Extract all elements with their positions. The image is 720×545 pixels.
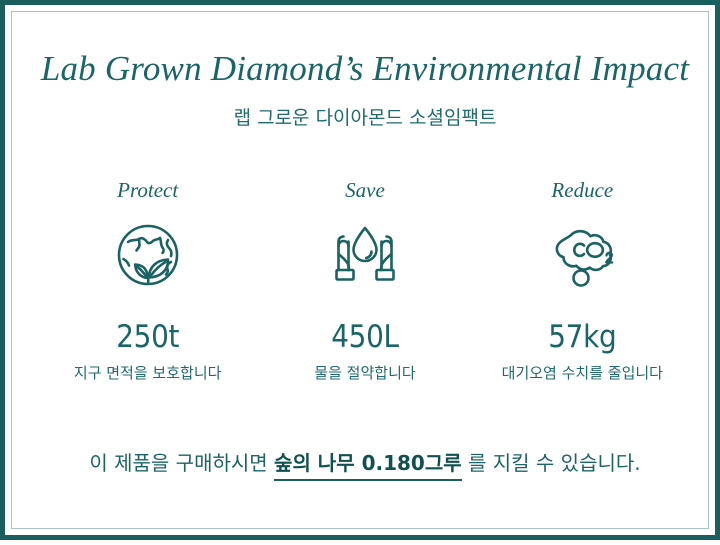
globe-leaf-icon bbox=[111, 219, 185, 291]
stat-column-reduce: Reduce 57kg bbox=[474, 177, 691, 384]
stats-row: Protect bbox=[39, 177, 691, 384]
stat-caption-protect: 지구 면적을 보호합니다 bbox=[74, 363, 222, 384]
stat-value-protect: 250t bbox=[116, 319, 179, 355]
stat-value-reduce: 57kg bbox=[548, 319, 616, 355]
hands-water-drop-icon bbox=[325, 219, 405, 291]
stat-column-protect: Protect bbox=[39, 177, 256, 384]
infographic-content: Lab Grown Diamond’s Environmental Impact… bbox=[5, 5, 720, 545]
footer-lead-text: 이 제품을 구매하시면 bbox=[89, 451, 274, 475]
infographic-card: Lab Grown Diamond’s Environmental Impact… bbox=[0, 0, 720, 540]
page-subtitle: 랩 그로운 다이아몬드 소셜임팩트 bbox=[5, 106, 720, 131]
footer-highlight-value: 숲의 나무 0.180그루 bbox=[274, 451, 462, 481]
page-title: Lab Grown Diamond’s Environmental Impact bbox=[5, 48, 720, 90]
stat-caption-reduce: 대기오염 수치를 줄입니다 bbox=[502, 363, 663, 384]
footer-tail-text: 를 지킬 수 있습니다. bbox=[462, 451, 641, 475]
co2-cloud-icon bbox=[540, 219, 624, 291]
stat-heading-protect: Protect bbox=[117, 177, 178, 203]
stat-heading-save: Save bbox=[345, 177, 385, 203]
stat-heading-reduce: Reduce bbox=[551, 177, 613, 203]
stat-caption-save: 물을 절약합니다 bbox=[314, 363, 415, 384]
stat-column-save: Save bbox=[256, 177, 473, 384]
stat-value-save: 450L bbox=[331, 319, 399, 355]
footer-sentence: 이 제품을 구매하시면 숲의 나무 0.180그루 를 지킬 수 있습니다. bbox=[5, 448, 720, 478]
